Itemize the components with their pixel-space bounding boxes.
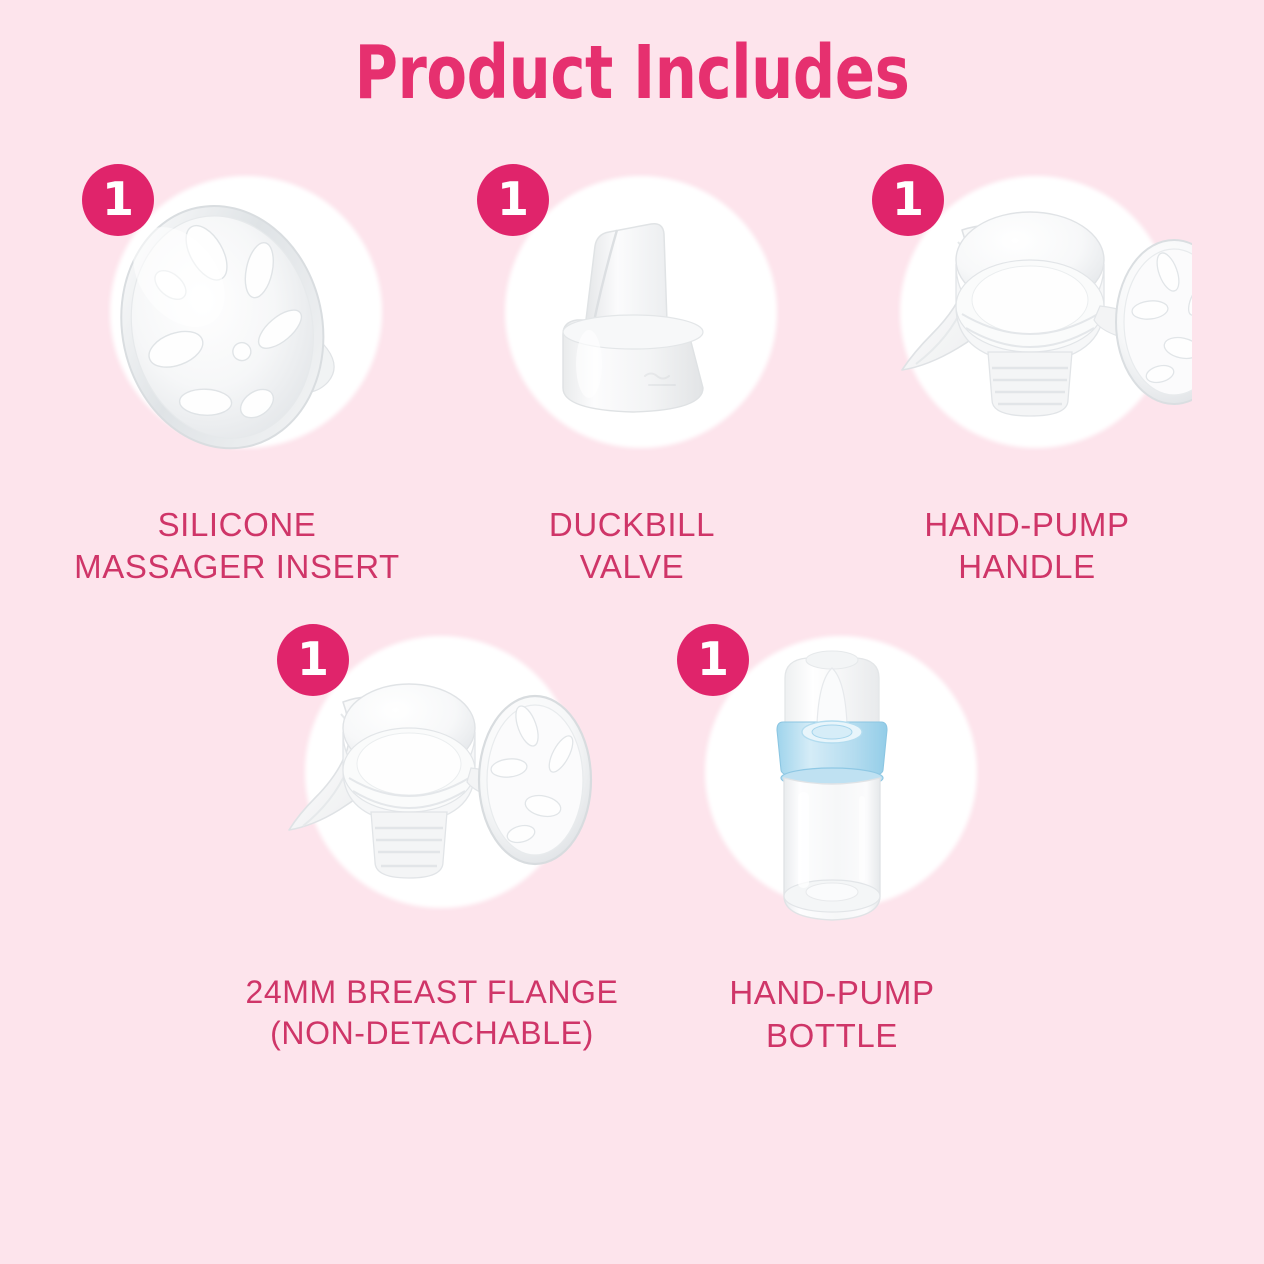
product-item-hand-pump-handle: 1 HAND-PUMP HANDLE: [830, 156, 1225, 588]
page-title: Product Includes: [126, 0, 1137, 110]
quantity-badge: 1: [872, 164, 944, 236]
product-item-hand-pump-bottle: 1 HAND-PUMP BOTTLE: [632, 616, 1032, 1056]
quantity-badge: 1: [677, 624, 749, 696]
product-image-frame: 1: [667, 616, 997, 946]
product-row-top: 1 SILICONE MASSAGER INSERT: [0, 156, 1264, 588]
product-label: SILICONE MASSAGER INSERT: [74, 504, 400, 588]
product-image-frame: 1: [267, 616, 597, 946]
quantity-badge: 1: [82, 164, 154, 236]
product-image-frame: 1: [72, 156, 402, 486]
product-item-silicone-massager-insert: 1 SILICONE MASSAGER INSERT: [40, 156, 435, 588]
product-image-frame: 1: [862, 156, 1192, 486]
product-label: HAND-PUMP BOTTLE: [729, 972, 934, 1056]
product-item-breast-flange: 1 24MM BREAST FLANGE (NON-DETACHABLE): [232, 616, 632, 1056]
quantity-badge: 1: [277, 624, 349, 696]
product-label: DUCKBILL VALVE: [549, 504, 715, 588]
product-row-bottom: 1 24MM BREAST FLANGE (NON-DETACHABLE): [0, 616, 1264, 1056]
product-label: 24MM BREAST FLANGE (NON-DETACHABLE): [246, 972, 619, 1054]
product-item-duckbill-valve: 1 DUCKBILL VALVE: [435, 156, 830, 588]
quantity-badge: 1: [477, 164, 549, 236]
product-label: HAND-PUMP HANDLE: [924, 504, 1129, 588]
product-image-frame: 1: [467, 156, 797, 486]
